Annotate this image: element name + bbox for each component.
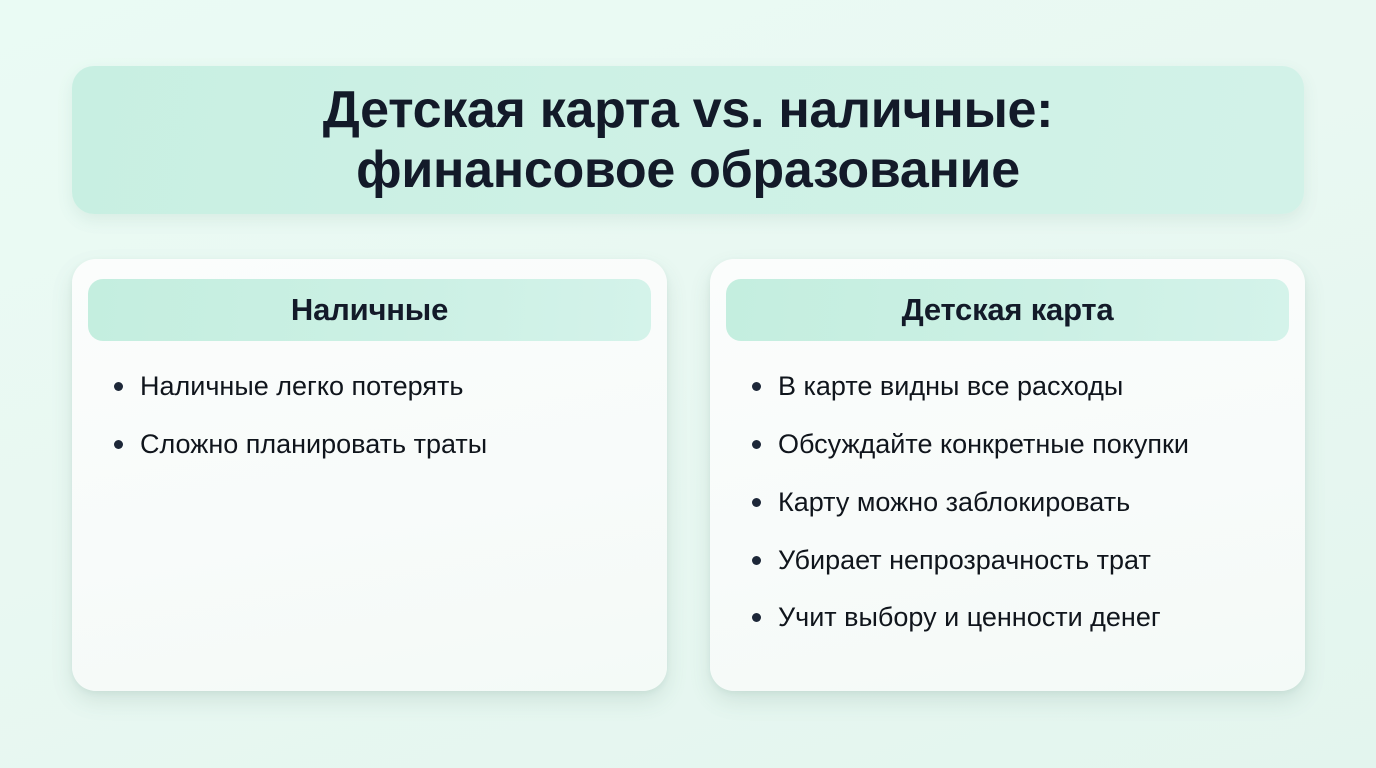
card-kids-card: Детская карта В карте видны все расходы … — [710, 259, 1305, 691]
list-item: Убирает непрозрачность трат — [752, 545, 1279, 577]
list-item: Сложно планировать траты — [114, 429, 641, 461]
card-cash-header-label: Наличные — [291, 292, 448, 328]
page-title: Детская карта vs. наличные: финансовое о… — [295, 80, 1081, 201]
card-cash-header: Наличные — [88, 279, 651, 341]
bullet-dot-icon — [752, 440, 761, 449]
card-kids-card-header: Детская карта — [726, 279, 1289, 341]
list-item: В карте видны все расходы — [752, 371, 1279, 403]
list-item-label: Обсуждайте конкретные покупки — [778, 429, 1189, 461]
list-item-label: Сложно планировать траты — [140, 429, 487, 461]
list-item-label: Наличные легко потерять — [140, 371, 463, 403]
comparison-cards: Наличные Наличные легко потерять Сложно … — [72, 259, 1305, 691]
list-item: Учит выбору и ценности денег — [752, 602, 1279, 634]
comparison-slide: Детская карта vs. наличные: финансовое о… — [0, 0, 1376, 768]
bullet-dot-icon — [752, 498, 761, 507]
bullet-dot-icon — [114, 382, 123, 391]
list-item-label: Учит выбору и ценности денег — [778, 602, 1161, 634]
list-item: Карту можно заблокировать — [752, 487, 1279, 519]
list-item: Наличные легко потерять — [114, 371, 641, 403]
list-item-label: Убирает непрозрачность трат — [778, 545, 1151, 577]
list-item-label: В карте видны все расходы — [778, 371, 1123, 403]
list-item: Обсуждайте конкретные покупки — [752, 429, 1279, 461]
title-banner: Детская карта vs. наличные: финансовое о… — [72, 66, 1304, 214]
bullet-dot-icon — [752, 556, 761, 565]
card-kids-card-header-label: Детская карта — [902, 292, 1114, 328]
card-cash-bullet-list: Наличные легко потерять Сложно планирова… — [88, 341, 651, 461]
card-kids-card-bullet-list: В карте видны все расходы Обсуждайте кон… — [726, 341, 1289, 634]
card-cash: Наличные Наличные легко потерять Сложно … — [72, 259, 667, 691]
list-item-label: Карту можно заблокировать — [778, 487, 1130, 519]
bullet-dot-icon — [114, 440, 123, 449]
bullet-dot-icon — [752, 613, 761, 622]
bullet-dot-icon — [752, 382, 761, 391]
